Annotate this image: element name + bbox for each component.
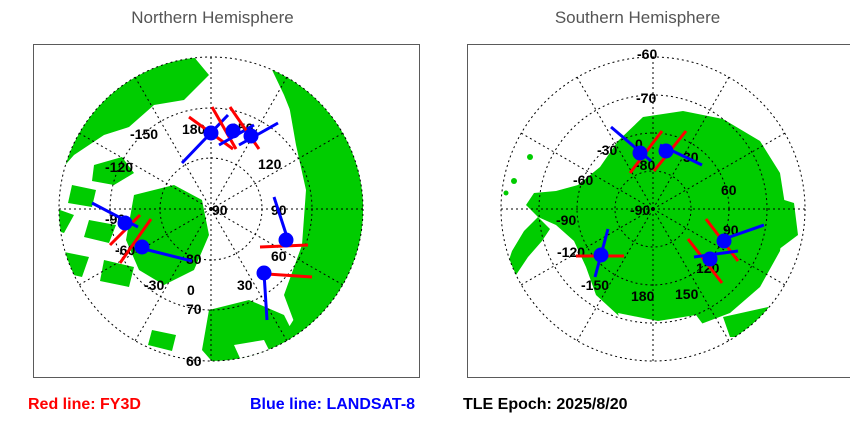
northern-center-label: 90 <box>212 202 228 218</box>
northern-lon-label-0: 0 <box>187 282 195 298</box>
northern-lat-label-60: 60 <box>186 353 202 369</box>
northern-lon-label-neg30: -30 <box>144 277 164 293</box>
northern-lon-label-neg120: -120 <box>105 159 133 175</box>
northern-lon-label-180: 180 <box>182 121 206 137</box>
legend-red-line: Red line: FY3D <box>28 396 141 414</box>
northern-lon-label-30: 30 <box>237 277 253 293</box>
northern-panel-title: Northern Hemisphere <box>0 8 425 28</box>
southern-map-frame: -60 -70 -80 -90 0 30 60 90 120 150 180 -… <box>467 44 850 378</box>
southern-lon-label-neg90: -90 <box>556 212 576 228</box>
southern-lon-label-150: 150 <box>675 286 699 302</box>
northern-map-frame: 90 80 70 60 0 30 60 90 120 -150 -120 -90… <box>33 44 420 378</box>
northern-lat-label-70: 70 <box>186 301 202 317</box>
northern-map-svg: 90 80 70 60 0 30 60 90 120 -150 -120 -90… <box>34 45 419 377</box>
southern-lon-label-neg120: -120 <box>557 244 585 260</box>
southern-lat-label-neg60: -60 <box>637 46 657 62</box>
southern-lon-label-neg150: -150 <box>581 277 609 293</box>
legend-blue-line: Blue line: LANDSAT-8 <box>250 396 415 414</box>
legend-bar: Red line: FY3D Blue line: LANDSAT-8 TLE … <box>0 390 850 425</box>
southern-panel-title: Southern Hemisphere <box>425 8 850 28</box>
northern-lon-label-60: 60 <box>271 248 287 264</box>
southern-lon-label-neg30: -30 <box>597 142 617 158</box>
southern-map-svg: -60 -70 -80 -90 0 30 60 90 120 150 180 -… <box>468 45 850 377</box>
northern-lon-label-120: 120 <box>258 156 282 172</box>
southern-center-label: -90 <box>630 202 650 218</box>
southern-lat-label-neg70: -70 <box>636 90 656 106</box>
panel-southern-hemisphere: Southern Hemisphere <box>425 0 850 390</box>
northern-lon-label-neg150: -150 <box>130 126 158 142</box>
southern-lon-label-180: 180 <box>631 288 655 304</box>
legend-tle-epoch: TLE Epoch: 2025/8/20 <box>463 396 628 414</box>
southern-lon-label-60: 60 <box>721 182 737 198</box>
satellite-tracking-page: Northern Hemisphere <box>0 0 850 425</box>
panel-northern-hemisphere: Northern Hemisphere <box>0 0 425 390</box>
southern-lon-label-neg60: -60 <box>573 172 593 188</box>
